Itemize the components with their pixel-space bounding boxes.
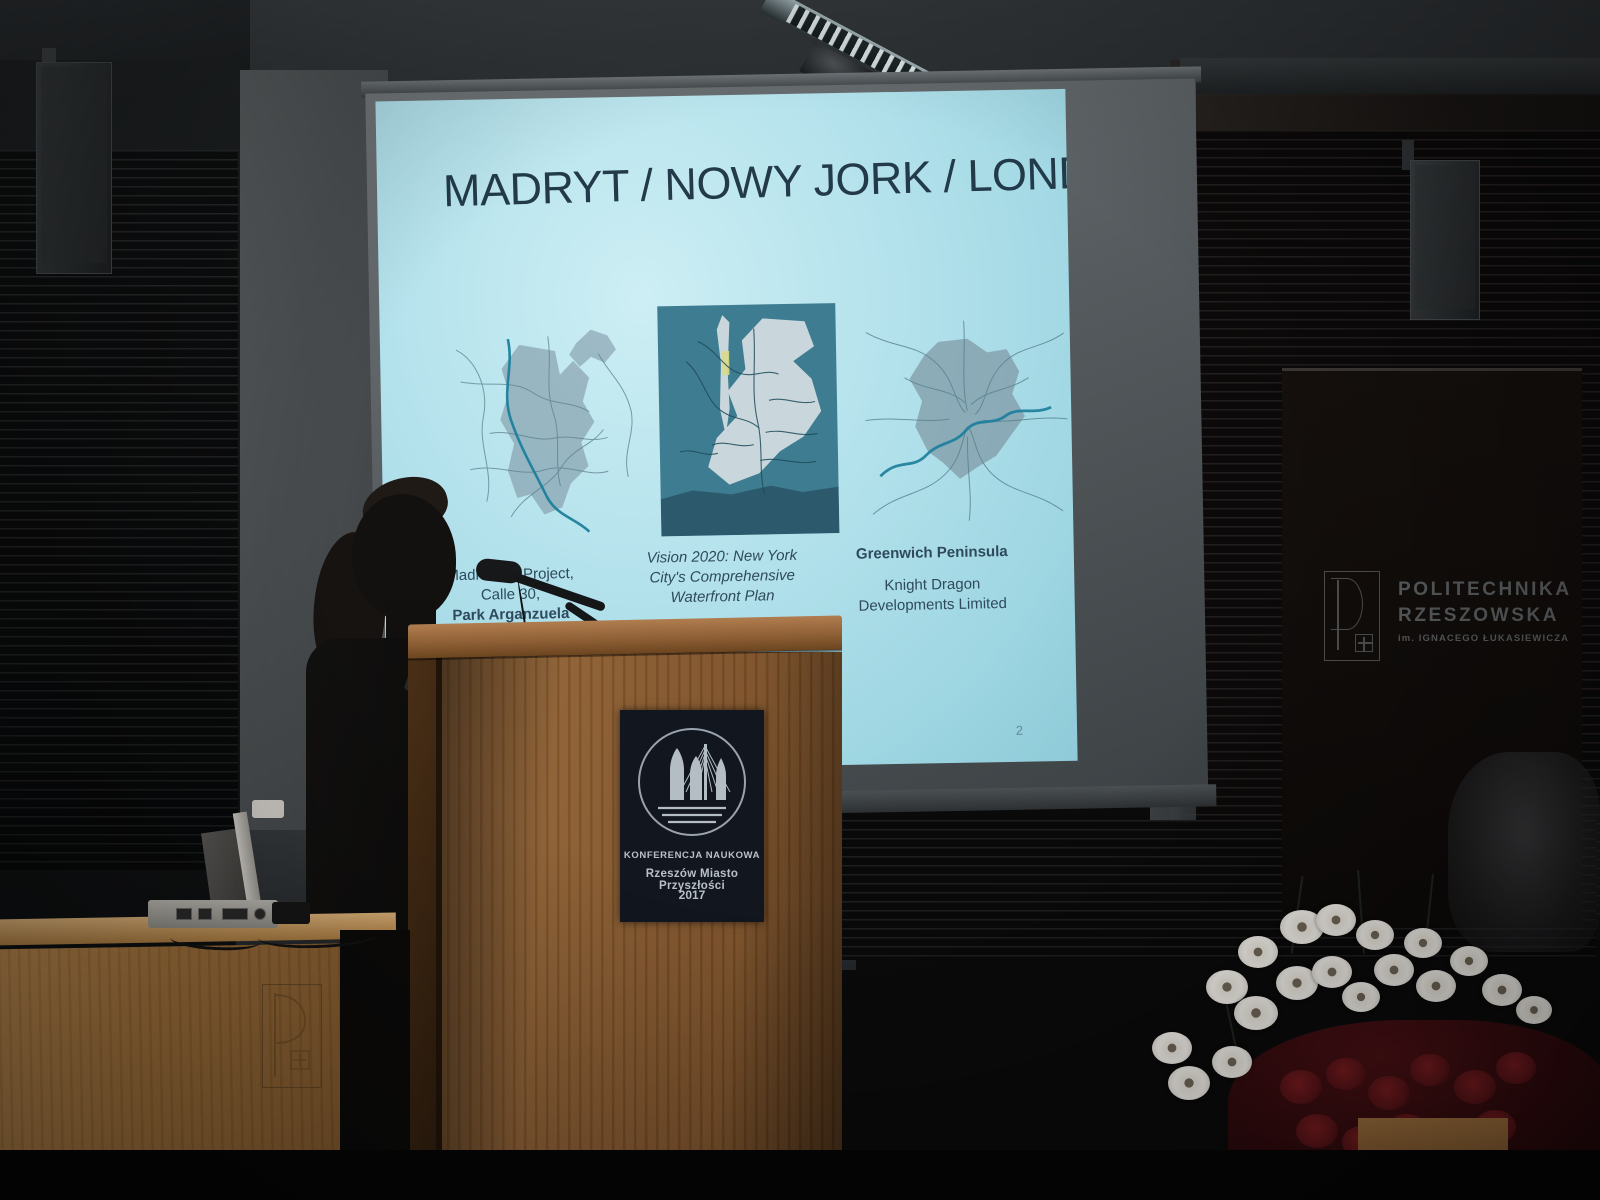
nyc-caption-line3: Waterfront Plan [670, 587, 774, 606]
red-flower [1496, 1052, 1536, 1084]
london-caption-line2: Knight Dragon [826, 573, 1038, 597]
banner-line-2: RZESZOWSKA [1398, 605, 1559, 627]
white-flower [1374, 954, 1414, 986]
conference-emblem-icon [638, 728, 746, 836]
logo-curve [1331, 578, 1363, 630]
floor [0, 1150, 1600, 1200]
london-caption-line3: Developments Limited [858, 595, 1007, 615]
lectern-podium: KONFERENCJA NAUKOWA Rzeszów Miasto Przys… [408, 620, 842, 1200]
conference-photo-scene: MADRYT / NOWY JORK / LONDYN [0, 0, 1600, 1200]
bridge-skyline-icon [640, 730, 744, 834]
banner-line-1: POLITECHNIKA [1398, 579, 1572, 601]
cable-connector[interactable] [272, 902, 310, 924]
new-york-caption: Vision 2020: New York City's Comprehensi… [622, 545, 823, 608]
white-flower [1212, 1046, 1252, 1078]
ceiling-beam-right [1180, 58, 1600, 94]
slide-number: 2 [1016, 723, 1024, 738]
nyc-road-network-icon [657, 303, 839, 536]
white-flower [1168, 1066, 1210, 1100]
red-flower [1296, 1114, 1338, 1148]
wall-speaker-right [1410, 160, 1480, 320]
white-flower [1416, 970, 1456, 1002]
red-flower [1410, 1054, 1450, 1086]
white-flower [1482, 974, 1522, 1006]
white-flower [1316, 904, 1356, 936]
document-camera-head [252, 800, 284, 818]
white-flower [1238, 936, 1278, 968]
microphone-arm [513, 572, 607, 612]
desk-university-logo-icon [262, 984, 322, 1088]
new-york-map [657, 303, 839, 536]
port-power[interactable] [254, 908, 266, 920]
white-flower [1152, 1032, 1192, 1064]
white-flower [1404, 928, 1442, 958]
nyc-caption-line2: City's Comprehensive [649, 567, 795, 587]
logo-cross [1355, 634, 1373, 652]
white-flower [1450, 946, 1488, 976]
red-flower [1326, 1058, 1366, 1090]
wall-speaker-left [36, 62, 112, 274]
banner-line-3: im. IGNACEGO ŁUKASIEWICZA [1398, 633, 1569, 644]
white-flower [1342, 982, 1380, 1012]
london-caption: Greenwich Peninsula Knight Dragon Develo… [826, 541, 1039, 616]
port-rj45[interactable] [176, 908, 192, 920]
london-caption-line1: Greenwich Peninsula [856, 543, 1008, 563]
white-flower [1312, 956, 1352, 988]
port-vga[interactable] [222, 908, 248, 920]
speaker-grille [1415, 165, 1475, 309]
red-flower [1454, 1070, 1496, 1104]
speaker-grille [41, 67, 107, 263]
poster-line-1: KONFERENCJA NAUKOWA [620, 850, 764, 861]
white-flower [1516, 996, 1552, 1024]
white-flower [1234, 996, 1278, 1030]
port-usb[interactable] [198, 908, 212, 920]
slide-title: MADRYT / NOWY JORK / LONDYN [442, 148, 1043, 217]
nyc-caption-line1: Vision 2020: New York [647, 547, 798, 567]
red-flower [1368, 1076, 1410, 1110]
conference-poster: KONFERENCJA NAUKOWA Rzeszów Miasto Przys… [620, 710, 764, 922]
poster-line-3: 2017 [620, 888, 764, 902]
london-map [859, 315, 1073, 529]
red-flower [1280, 1070, 1322, 1104]
london-road-network-icon [859, 315, 1073, 529]
white-flower [1356, 920, 1394, 950]
logo-mark-icon [263, 985, 319, 1085]
politechnika-logo-icon [1324, 571, 1380, 661]
